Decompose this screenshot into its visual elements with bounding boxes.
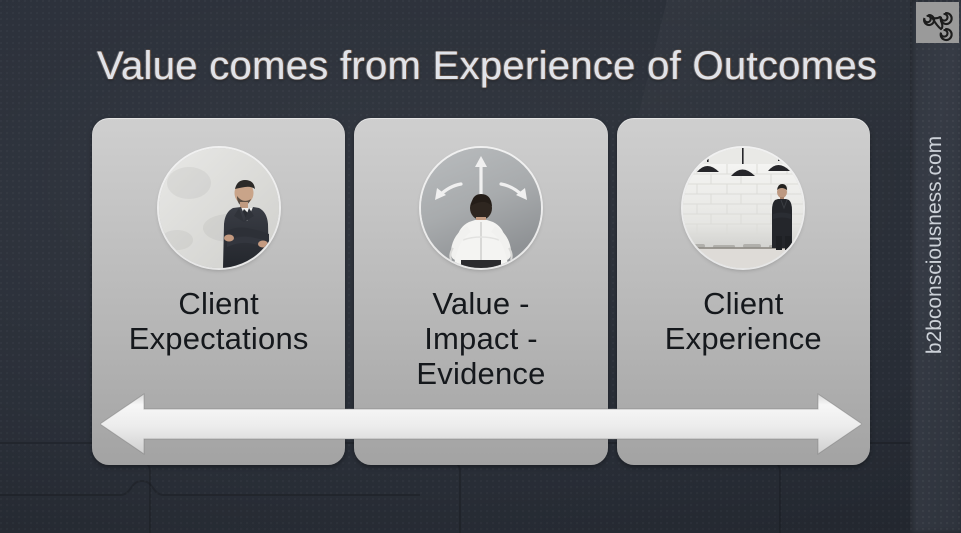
sidebar-url-container: b2bconsciousness.com (910, 48, 961, 448)
card-label-line: Impact - (362, 321, 599, 356)
card-value-impact-evidence[interactable]: Value - Impact - Evidence (354, 118, 607, 465)
card-label-line: Expectations (100, 321, 337, 356)
triskele-logo[interactable] (916, 2, 959, 43)
page-title: Value comes from Experience of Outcomes (97, 44, 877, 89)
card-label-line: Client (100, 286, 337, 321)
card-label-client-expectations: Client Expectations (92, 286, 345, 356)
cards-row: Client Expectations (92, 118, 870, 465)
card-label-line: Experience (625, 321, 862, 356)
card-client-experience[interactable]: Client Experience (617, 118, 870, 465)
card-label-line: Evidence (362, 356, 599, 391)
card-label-value-impact-evidence: Value - Impact - Evidence (354, 286, 607, 391)
businessman-arms-crossed-photo (159, 148, 279, 268)
person-brick-wall-lamps-photo (683, 148, 803, 268)
sidebar-url[interactable]: b2bconsciousness.com (923, 45, 947, 445)
sidebar: b2bconsciousness.com (910, 0, 961, 533)
card-label-client-experience: Client Experience (617, 286, 870, 356)
card-label-line: Value - (362, 286, 599, 321)
man-facing-arrows-photo (421, 148, 541, 268)
slide: Value comes from Experience of Outcomes (0, 0, 961, 533)
card-client-expectations[interactable]: Client Expectations (92, 118, 345, 465)
card-label-line: Client (625, 286, 862, 321)
